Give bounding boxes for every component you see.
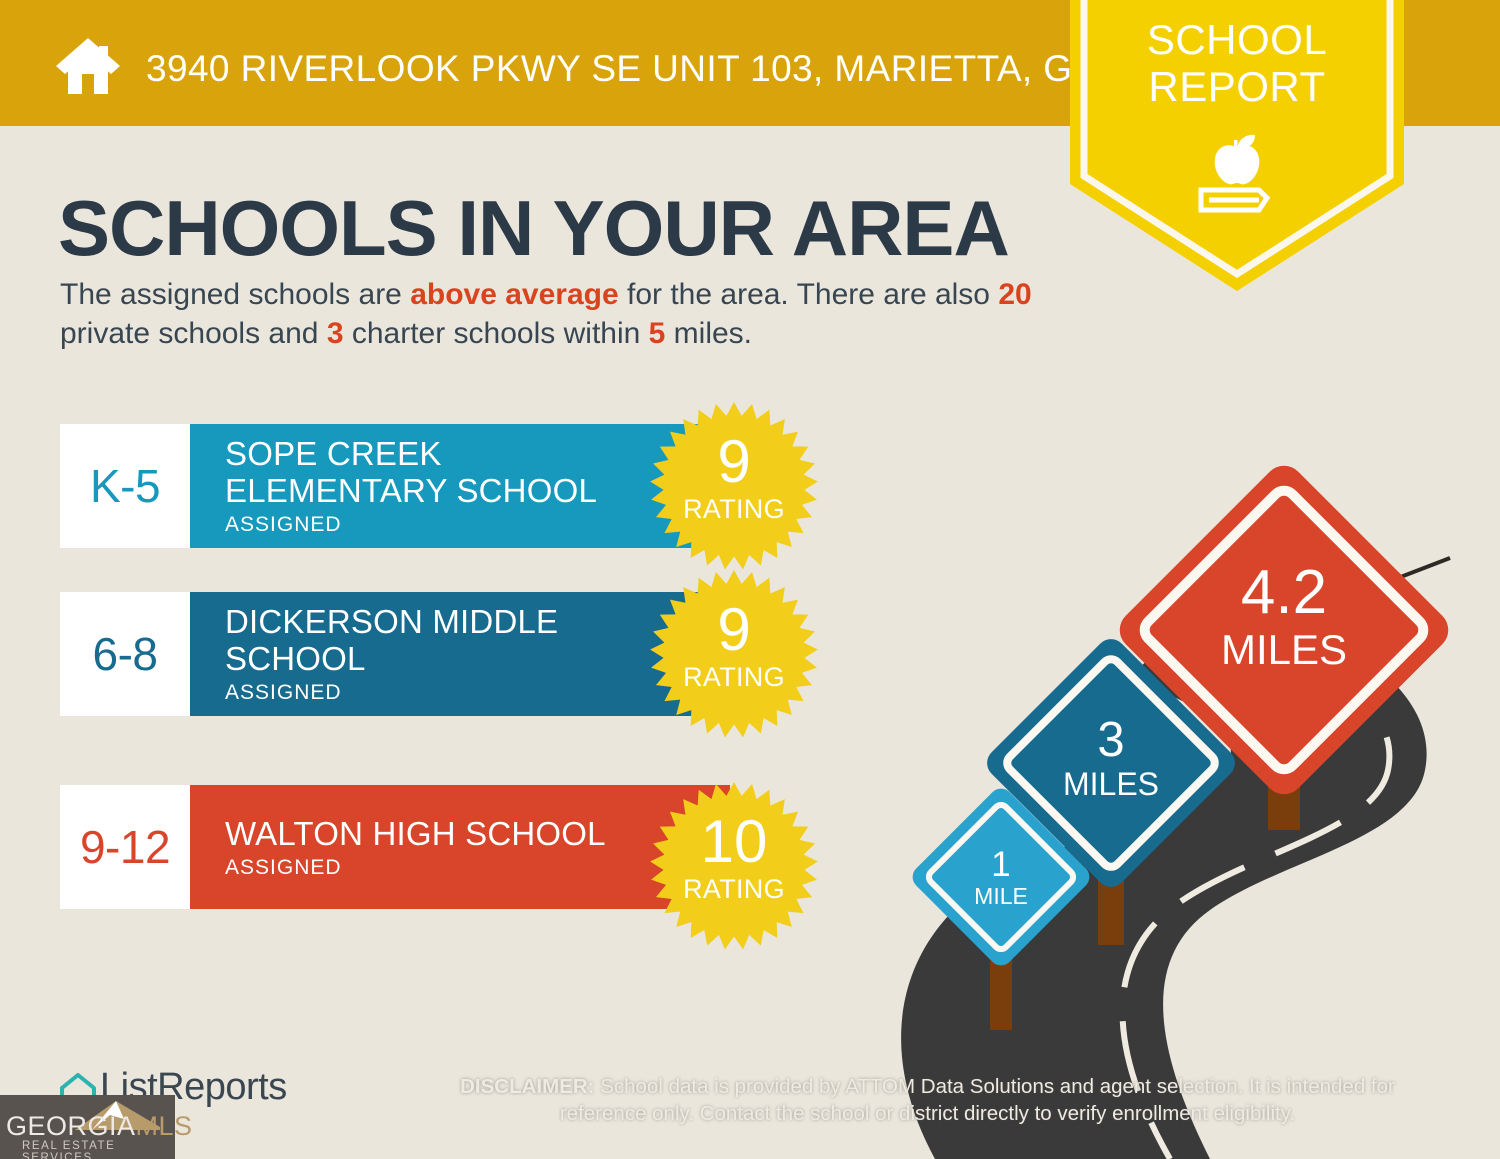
- georgia-mls-wordmark: GEORGIAMLS: [6, 1111, 193, 1142]
- school-name: WALTON HIGH SCHOOL: [225, 815, 655, 852]
- subtitle-part-2: for the area. There are also: [619, 278, 999, 311]
- school-report-badge: SCHOOL REPORT: [1070, 0, 1404, 291]
- grade-range-label: K-5: [90, 459, 160, 513]
- subtitle-highlight-charter-count: 3: [327, 317, 344, 350]
- apple-on-book-icon: [1187, 126, 1287, 226]
- disclaimer-label: DISCLAIMER:: [460, 1075, 594, 1098]
- school-report-infographic: 3940 RIVERLOOK PKWY SE UNIT 103, MARIETT…: [0, 0, 1500, 1159]
- grade-range-label: 6-8: [93, 627, 158, 681]
- grade-range-box: K-5: [60, 424, 190, 548]
- rating-badge: 9 RATING: [650, 570, 818, 738]
- rating-label: RATING: [650, 874, 818, 905]
- rating-value: 9: [650, 600, 818, 660]
- rating-value: 9: [650, 432, 818, 492]
- rating-badge: 10 RATING: [650, 782, 818, 950]
- school-bar: WALTON HIGH SCHOOL ASSIGNED: [190, 785, 730, 909]
- subtitle-part-3: private schools and: [60, 317, 327, 350]
- school-name: SOPE CREEK ELEMENTARY SCHOOL: [225, 435, 655, 509]
- subtitle-text: The assigned schools are above average f…: [60, 275, 1040, 353]
- school-name: DICKERSON MIDDLE SCHOOL: [225, 603, 655, 677]
- subtitle-part-1: The assigned schools are: [60, 278, 410, 311]
- property-address: 3940 RIVERLOOK PKWY SE UNIT 103, MARIETT…: [146, 48, 1211, 90]
- grade-range-label: 9-12: [80, 820, 170, 874]
- subtitle-part-5: miles.: [665, 317, 752, 350]
- subtitle-highlight-rating: above average: [410, 278, 618, 311]
- subtitle-part-4: charter schools within: [344, 317, 649, 350]
- distance-road-illustration: 1 MILE 3 MILES 4.2 MILES: [880, 440, 1500, 1159]
- rating-label: RATING: [650, 662, 818, 693]
- subtitle-highlight-radius: 5: [649, 317, 666, 350]
- school-bar: SOPE CREEK ELEMENTARY SCHOOL ASSIGNED: [190, 424, 730, 548]
- subtitle-highlight-private-count: 20: [998, 278, 1031, 311]
- mls-word: MLS: [136, 1111, 193, 1141]
- school-bar: DICKERSON MIDDLE SCHOOL ASSIGNED: [190, 592, 730, 716]
- grade-range-box: 6-8: [60, 592, 190, 716]
- home-icon: [54, 36, 122, 96]
- georgia-mls-logo[interactable]: GEORGIAMLS REAL ESTATE SERVICES: [0, 1095, 175, 1159]
- page-title: SCHOOLS IN YOUR AREA: [58, 183, 1009, 274]
- rating-value: 10: [650, 812, 818, 872]
- georgia-mls-tagline: REAL ESTATE SERVICES: [22, 1140, 175, 1159]
- disclaimer-text: DISCLAIMER: School data is provided by A…: [425, 1073, 1430, 1127]
- georgia-word: GEORGIA: [6, 1111, 136, 1141]
- disclaimer-body: School data is provided by ATTOM Data So…: [560, 1075, 1395, 1125]
- rating-badge: 9 RATING: [650, 402, 818, 570]
- grade-range-box: 9-12: [60, 785, 190, 909]
- rating-label: RATING: [650, 494, 818, 525]
